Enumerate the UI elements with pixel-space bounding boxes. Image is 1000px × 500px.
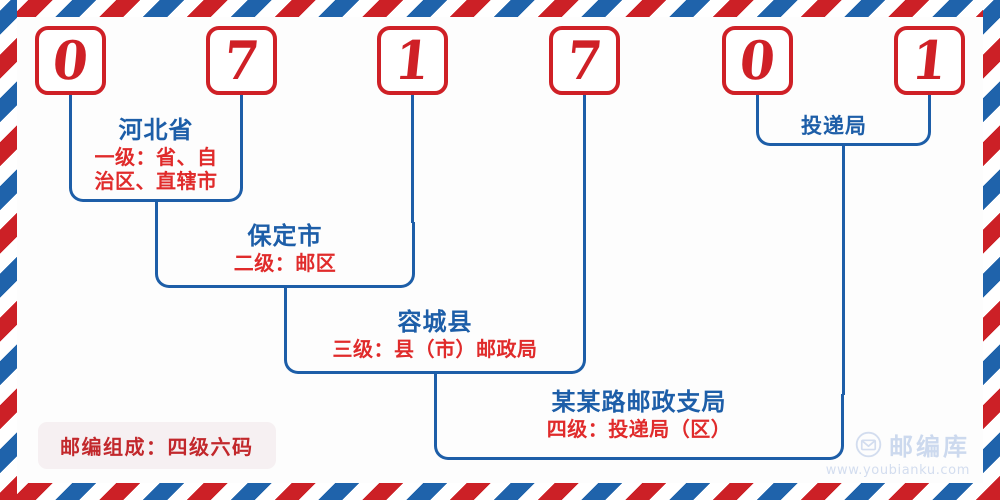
composition-badge: 邮编组成：四级六码	[38, 422, 276, 469]
level-1-name: 河北省	[57, 116, 255, 144]
level-4-name: 某某路邮政支局	[444, 388, 834, 416]
stem-level-1	[155, 201, 158, 223]
stem-digit-6	[928, 95, 931, 111]
level-2-desc: 二级：邮区	[175, 252, 395, 276]
level-4-desc: 四级：投递局（区）	[444, 418, 834, 442]
watermark: 邮编库 www.youbianku.com	[826, 427, 970, 478]
stem-level-3	[434, 373, 437, 395]
digit-glyph-2: 7	[221, 34, 261, 87]
stem-digit-3	[411, 95, 414, 223]
watermark-name: 邮编库	[889, 427, 970, 462]
digit-glyph-4: 7	[564, 34, 604, 87]
level-1-desc-line-2: 治区、直辖市	[57, 170, 255, 194]
level-3-desc-line-1: 三级：县（市）邮政局	[294, 338, 576, 362]
stem-digit-5	[756, 95, 759, 111]
level-2-label: 保定市 二级：邮区	[175, 222, 395, 276]
digit-box-1[interactable]: 0	[35, 26, 106, 95]
watermark-url: www.youbianku.com	[826, 463, 970, 478]
digit-glyph-5: 0	[737, 34, 777, 87]
stem-delivery-office	[842, 145, 845, 395]
digit-glyph-6: 1	[909, 34, 949, 87]
digit-box-4[interactable]: 7	[549, 26, 620, 95]
envelope-circle-icon	[855, 431, 882, 458]
stem-digit-2	[240, 95, 243, 111]
digit-box-2[interactable]: 7	[206, 26, 277, 95]
level-3-label: 容城县 三级：县（市）邮政局	[294, 308, 576, 362]
level-4-desc-line-1: 四级：投递局（区）	[444, 418, 834, 442]
delivery-office-label: 投递局	[801, 110, 867, 140]
postcode-diagram-canvas: 0 7 1 7 0 1 河北省 一级：省、自 治区、直辖市	[0, 0, 1000, 500]
level-3-name: 容城县	[294, 308, 576, 336]
level-2-name: 保定市	[175, 222, 395, 250]
level-1-label: 河北省 一级：省、自 治区、直辖市	[57, 116, 255, 194]
digit-box-6[interactable]: 1	[894, 26, 965, 95]
digit-glyph-3: 1	[392, 34, 432, 87]
stem-level-2	[284, 287, 287, 309]
level-3-desc: 三级：县（市）邮政局	[294, 338, 576, 362]
level-4-label: 某某路邮政支局 四级：投递局（区）	[444, 388, 834, 442]
stem-digit-4	[583, 95, 586, 309]
digit-glyph-1: 0	[50, 34, 90, 87]
level-1-desc-line-1: 一级：省、自	[57, 146, 255, 170]
digit-box-5[interactable]: 0	[722, 26, 793, 95]
digit-box-3[interactable]: 1	[377, 26, 448, 95]
level-2-desc-line-1: 二级：邮区	[175, 252, 395, 276]
stem-digit-1	[69, 95, 72, 111]
level-1-desc: 一级：省、自 治区、直辖市	[57, 146, 255, 193]
